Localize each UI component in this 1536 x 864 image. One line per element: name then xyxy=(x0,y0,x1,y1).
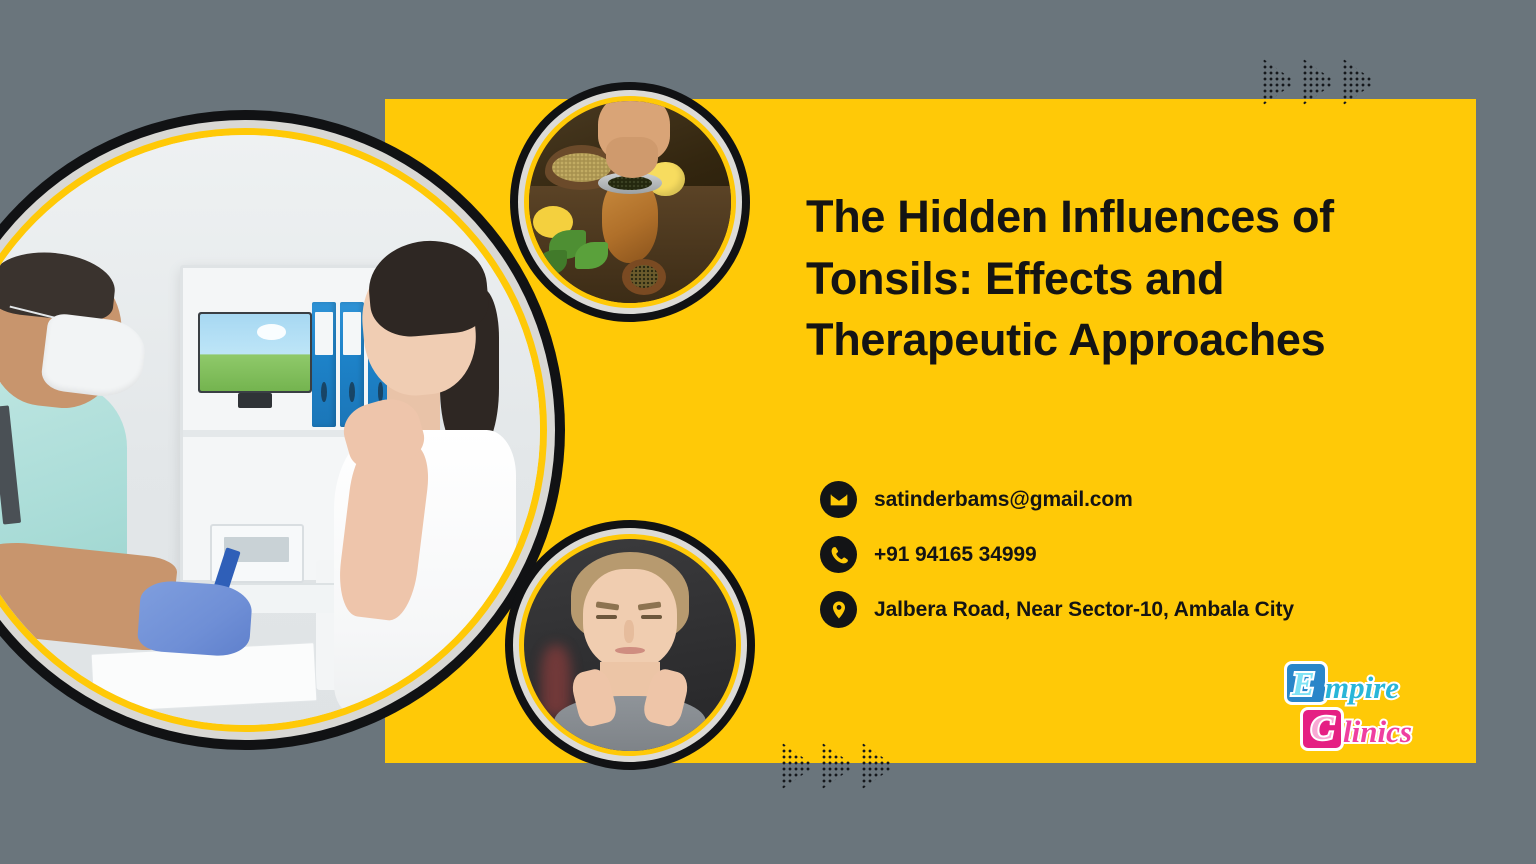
page-title: The Hidden Influences of Tonsils: Effect… xyxy=(806,186,1446,371)
contact-list: satinderbams@gmail.com +91 94165 34999 J… xyxy=(820,472,1294,637)
hero-ring-yellow xyxy=(0,128,547,732)
contact-row-address[interactable]: Jalbera Road, Near Sector-10, Ambala Cit… xyxy=(820,582,1294,637)
throat-photo xyxy=(524,539,736,751)
address-text: Jalbera Road, Near Sector-10, Ambala Cit… xyxy=(874,598,1294,622)
herbs-ring-yellow xyxy=(524,96,736,308)
banner-canvas: The Hidden Influences of Tonsils: Effect… xyxy=(0,0,1536,864)
chevron-dot-triangle-icon xyxy=(1262,58,1296,106)
chevron-decoration-bottom xyxy=(781,742,895,790)
chevron-dot-triangle-icon xyxy=(861,742,895,790)
logo-line-empire: E mpire xyxy=(1281,662,1423,706)
herbs-image-circle xyxy=(510,82,750,322)
monitor xyxy=(198,312,312,393)
closed-eye xyxy=(596,615,617,619)
phone-icon xyxy=(820,536,857,573)
herbs-ring-gray xyxy=(518,90,742,314)
herb-half-shell xyxy=(622,259,666,295)
hero-ring-gray xyxy=(0,120,555,740)
throat-ring-yellow xyxy=(519,534,741,756)
chevron-dot-triangle-icon xyxy=(821,742,855,790)
binder xyxy=(312,302,336,427)
logo-line-clinics: C linics xyxy=(1281,708,1423,754)
blue-glove xyxy=(136,580,253,658)
chevron-dot-triangle-icon xyxy=(1342,58,1376,106)
fingers-sprinkling xyxy=(606,137,659,177)
logo-text-mpire: mpire xyxy=(1325,672,1399,703)
location-pin-icon xyxy=(820,591,857,628)
chevron-dot-triangle-icon xyxy=(1302,58,1336,106)
logo-empire-clinics[interactable]: E mpire C linics xyxy=(1281,662,1423,754)
logo-letter-c: C xyxy=(1311,712,1334,746)
email-text: satinderbams@gmail.com xyxy=(874,488,1133,512)
hero-photo-doctor-patient xyxy=(0,135,540,725)
herbs-photo xyxy=(529,101,731,303)
envelope-icon xyxy=(820,481,857,518)
nose xyxy=(624,620,635,643)
throat-ring-gray xyxy=(513,528,747,762)
closed-eye xyxy=(641,615,662,619)
content-area: The Hidden Influences of Tonsils: Effect… xyxy=(806,186,1446,371)
chevron-dot-triangle-icon xyxy=(781,742,815,790)
hero-image-circle xyxy=(0,110,565,750)
contact-row-phone[interactable]: +91 94165 34999 xyxy=(820,527,1294,582)
monitor-screen xyxy=(200,314,310,391)
logo-text-linics: linics xyxy=(1343,716,1412,747)
logo-letter-e: E xyxy=(1292,668,1315,702)
chevron-decoration-top xyxy=(1262,58,1376,106)
throat-image-circle xyxy=(505,520,755,770)
contact-row-email[interactable]: satinderbams@gmail.com xyxy=(820,472,1294,527)
monitor-stand xyxy=(238,393,273,409)
phone-text: +91 94165 34999 xyxy=(874,543,1037,567)
